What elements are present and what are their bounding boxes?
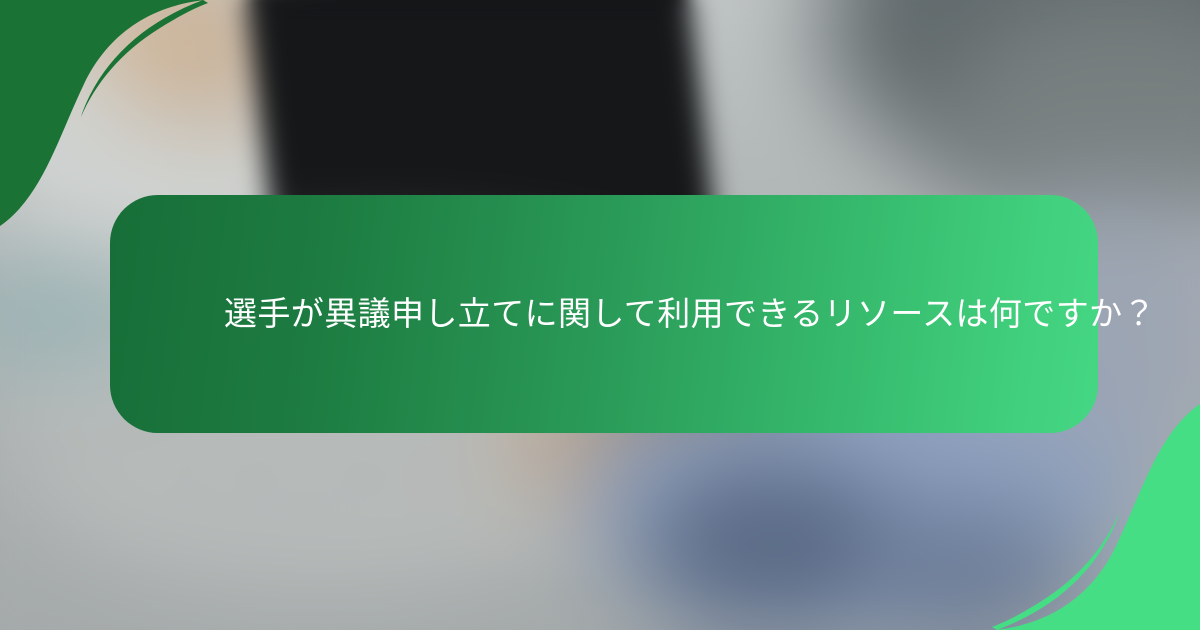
- quote-text: 選手が異議申し立てに関して利用できるリソースは何ですか？: [224, 287, 984, 340]
- quote-card: 選手が異議申し立てに関して利用できるリソースは何ですか？: [110, 195, 1098, 433]
- share-card-canvas: 選手が異議申し立てに関して利用できるリソースは何ですか？: [0, 0, 1200, 630]
